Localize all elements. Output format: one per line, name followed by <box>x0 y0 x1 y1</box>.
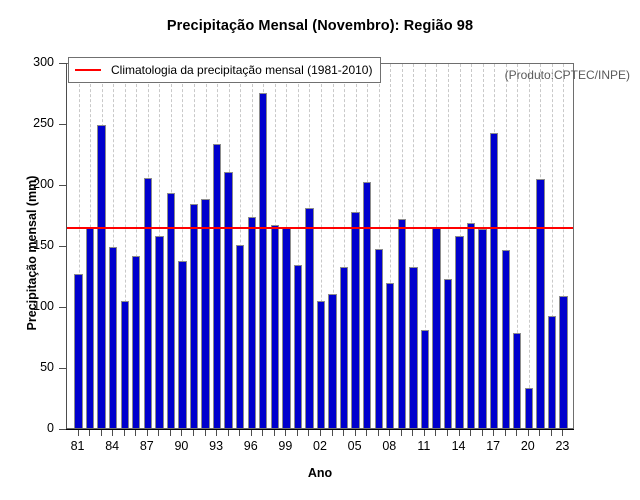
y-axis-tick <box>59 429 66 430</box>
bar <box>432 227 440 428</box>
bar <box>155 236 163 428</box>
bar <box>213 144 221 428</box>
bar <box>375 249 383 428</box>
x-axis-tick <box>320 430 321 436</box>
x-axis-tick <box>101 430 102 436</box>
x-axis-tick <box>332 430 333 436</box>
x-axis-tick <box>262 430 263 436</box>
bar <box>190 204 198 428</box>
x-axis-tick <box>251 430 252 436</box>
x-axis-tick-label: 23 <box>542 439 582 453</box>
x-axis-tick <box>193 430 194 436</box>
x-axis-tick <box>378 430 379 436</box>
gridline-vertical <box>529 64 530 428</box>
y-axis-tick <box>59 368 66 369</box>
bar <box>132 256 140 428</box>
x-axis-tick <box>308 430 309 436</box>
bar <box>478 229 486 428</box>
bar <box>201 199 209 428</box>
bar <box>109 247 117 428</box>
bar <box>305 208 313 428</box>
x-axis-tick <box>505 430 506 436</box>
plot-area <box>66 63 574 429</box>
x-axis-tick <box>528 430 529 436</box>
x-axis-tick <box>170 430 171 436</box>
y-axis-tick <box>59 124 66 125</box>
x-axis-tick <box>401 430 402 436</box>
x-axis-tick <box>124 430 125 436</box>
bar <box>536 179 544 428</box>
x-axis-tick <box>78 430 79 436</box>
bar <box>97 125 105 428</box>
y-axis-tick-label: 200 <box>0 177 54 191</box>
legend-line-swatch-icon <box>75 69 101 71</box>
bar <box>328 294 336 428</box>
x-axis-tick <box>493 430 494 436</box>
x-axis-tick <box>112 430 113 436</box>
x-axis-tick <box>158 430 159 436</box>
x-axis-tick <box>205 430 206 436</box>
x-axis-tick <box>355 430 356 436</box>
x-axis-tick <box>551 430 552 436</box>
bar <box>294 265 302 428</box>
x-axis-tick <box>482 430 483 436</box>
bar <box>317 301 325 428</box>
x-axis-tick <box>435 430 436 436</box>
x-axis-tick <box>424 430 425 436</box>
bar <box>525 388 533 428</box>
x-axis-tick <box>216 430 217 436</box>
bar <box>340 267 348 428</box>
bar <box>248 217 256 428</box>
y-axis-tick <box>59 63 66 64</box>
x-axis-tick <box>239 430 240 436</box>
x-axis-tick <box>89 430 90 436</box>
bar <box>398 219 406 428</box>
bar <box>502 250 510 428</box>
x-axis-tick <box>274 430 275 436</box>
bar <box>444 279 452 428</box>
x-axis-tick <box>516 430 517 436</box>
x-axis-tick <box>459 430 460 436</box>
bar <box>236 245 244 428</box>
bar <box>559 296 567 428</box>
x-axis-tick <box>181 430 182 436</box>
bar <box>144 178 152 428</box>
y-axis-tick-label: 100 <box>0 299 54 313</box>
bar <box>455 236 463 428</box>
bar <box>363 182 371 428</box>
y-axis-tick-label: 150 <box>0 238 54 252</box>
bar <box>548 316 556 428</box>
bar <box>74 274 82 428</box>
x-axis-tick <box>562 430 563 436</box>
page-title: Precipitação Mensal (Novembro): Região 9… <box>0 18 640 34</box>
x-axis-tick <box>297 430 298 436</box>
y-axis-tick-label: 300 <box>0 55 54 69</box>
bar <box>259 93 267 429</box>
y-axis-tick <box>59 246 66 247</box>
x-axis-tick <box>470 430 471 436</box>
bar <box>271 225 279 428</box>
y-axis-tick <box>59 307 66 308</box>
bar <box>86 227 94 428</box>
x-axis-tick <box>228 430 229 436</box>
bar <box>490 133 498 428</box>
bar <box>121 301 129 428</box>
bar <box>409 267 417 428</box>
y-axis-tick-label: 50 <box>0 360 54 374</box>
x-axis-tick <box>343 430 344 436</box>
x-axis-tick <box>285 430 286 436</box>
bar <box>351 212 359 428</box>
bar <box>467 223 475 428</box>
credit-annotation: (Produto:CPTEC/INPE) <box>505 68 630 82</box>
x-axis-tick <box>539 430 540 436</box>
x-axis-tick <box>389 430 390 436</box>
y-axis-tick-label: 0 <box>0 421 54 435</box>
y-axis-tick <box>59 185 66 186</box>
y-axis-tick-label: 250 <box>0 116 54 130</box>
legend: Climatologia da precipitação mensal (198… <box>68 57 381 83</box>
x-axis-tick <box>447 430 448 436</box>
bar <box>178 261 186 428</box>
climatology-reference-line <box>67 227 573 229</box>
precipitation-bar-chart: Precipitação Mensal (Novembro): Região 9… <box>0 0 640 500</box>
bar <box>224 172 232 428</box>
x-axis-tick <box>412 430 413 436</box>
x-axis-tick <box>135 430 136 436</box>
bar <box>421 330 429 428</box>
y-axis-line <box>66 63 67 429</box>
y-axis-title: Precipitação mensal (mm) <box>25 113 39 393</box>
bar <box>386 283 394 428</box>
x-axis-tick <box>147 430 148 436</box>
bar <box>513 333 521 428</box>
bar <box>282 227 290 428</box>
x-axis-tick <box>366 430 367 436</box>
x-axis-title: Ano <box>0 466 640 480</box>
legend-label: Climatologia da precipitação mensal (198… <box>111 63 372 77</box>
